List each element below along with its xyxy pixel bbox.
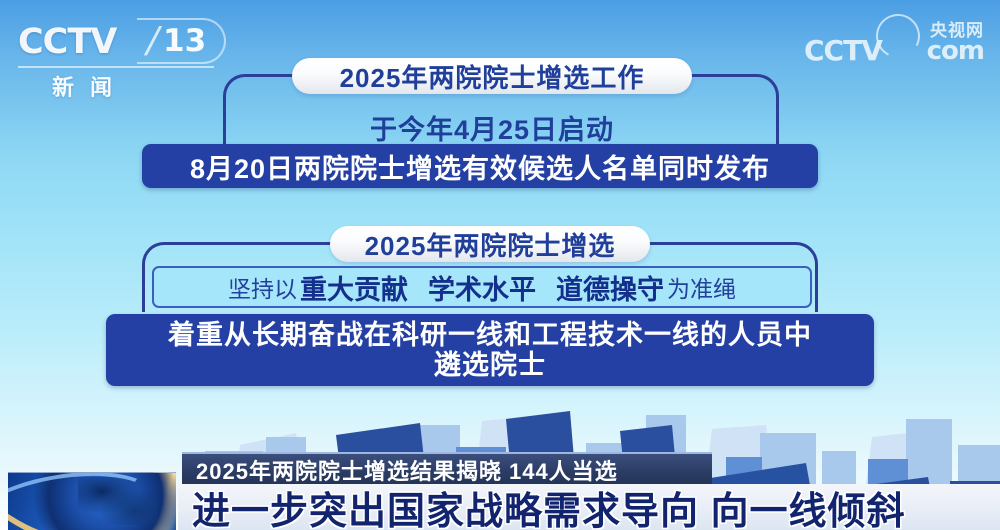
globe-blue-swoosh [8, 472, 166, 530]
watermark-site-domain: com [927, 36, 984, 66]
block2-detail-line1: 着重从长期奋战在科研一线和工程技术一线的人员中 [168, 320, 812, 350]
block2-heading: 2025年两院院士增选 [330, 226, 650, 262]
site-watermark: CCTV 央视网 com [798, 16, 986, 68]
block2-detail-line2: 遴选院士 [434, 350, 546, 380]
block1-detail-bar: 8月20日两院院士增选有效候选人名单同时发布 [142, 144, 818, 188]
block2-detail-bar: 着重从长期奋战在科研一线和工程技术一线的人员中 遴选院士 [106, 314, 874, 386]
lower-third-headline-text: 进一步突出国家战略需求导向 向一线倾斜 [192, 480, 906, 530]
globe-bumper-graphic [8, 472, 176, 530]
criteria-prefix: 坚持以 [228, 270, 297, 304]
criteria-term-1: 重大贡献 [297, 268, 411, 307]
logo-subtitle: 新闻 [52, 70, 128, 102]
channel-logo: CCTV / 13 新闻 [16, 22, 226, 84]
lower-third-headline-bar: 进一步突出国家战略需求导向 向一线倾斜 [178, 484, 1000, 530]
logo-brand-text: CCTV [18, 22, 116, 62]
criteria-suffix: 为准绳 [667, 270, 736, 304]
criteria-term-3: 道德操守 [553, 268, 667, 307]
logo-channel-number: 13 [163, 23, 206, 59]
watermark-brand: CCTV [804, 34, 882, 67]
block2-criteria-bar: 坚持以 重大贡献 学术水平 道德操守 为准绳 [152, 266, 812, 308]
criteria-term-2: 学术水平 [425, 268, 539, 307]
logo-underline [18, 66, 214, 68]
block1-heading: 2025年两院院士增选工作 [292, 58, 692, 94]
block1-subheading: 于今年4月25日启动 [292, 108, 692, 147]
